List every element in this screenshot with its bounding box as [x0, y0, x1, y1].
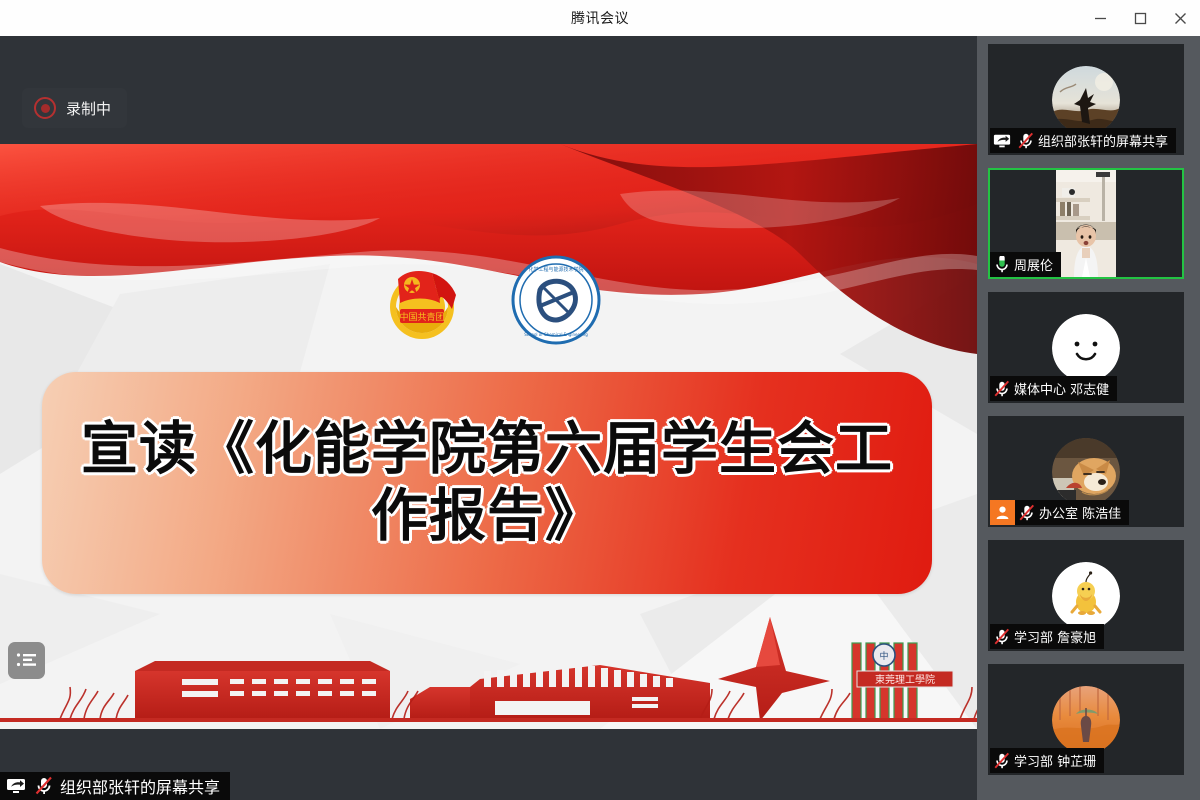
participant-name-bar: 媒体中心 邓志健: [990, 376, 1117, 401]
avatar: [1052, 562, 1120, 630]
participant-tile[interactable]: 媒体中心 邓志健: [988, 292, 1184, 403]
mic-muted-icon: [1014, 128, 1038, 153]
participant-tile[interactable]: 周展伦: [988, 168, 1184, 279]
shiba-dog-icon: [1052, 438, 1120, 506]
mic-muted-icon: [990, 748, 1014, 773]
participant-name: 组织部张轩的屏幕共享: [1038, 131, 1168, 150]
participant-tile[interactable]: 办公室 陈浩佳: [988, 416, 1184, 527]
psyduck-cartoon-icon: [1052, 562, 1120, 630]
maximize-button[interactable]: [1120, 0, 1160, 36]
slide-title-plate: 宣读《化能学院第六届学生会工作报告》: [42, 372, 932, 594]
participant-tile[interactable]: 组织部张轩的屏幕共享: [988, 44, 1184, 155]
live-camera-feed: [1056, 170, 1116, 277]
mic-muted-icon: [990, 376, 1014, 401]
campus-skyline-silhouette: 中 東莞理工學院 學 而知 不足: [0, 609, 977, 729]
host-badge-icon: [990, 500, 1015, 525]
window-controls: [1080, 0, 1200, 36]
avatar: [1052, 438, 1120, 506]
title-bar: 腾讯会议: [0, 0, 1200, 37]
window-title: 腾讯会议: [571, 8, 629, 28]
record-dot-icon: [34, 97, 56, 119]
participant-name: 学习部 钟芷珊: [1014, 751, 1096, 770]
recording-label: 录制中: [66, 98, 111, 119]
avatar: [1052, 314, 1120, 382]
tencent-meeting-window: 腾讯会议 录制中: [0, 0, 1200, 800]
participant-name-bar: 办公室 陈浩佳: [990, 500, 1129, 525]
participant-name: 学习部 詹豪旭: [1014, 627, 1096, 646]
minimize-icon: [1094, 12, 1107, 25]
share-status-label: 组织部张轩的屏幕共享: [0, 772, 230, 800]
communist-youth-league-emblem: 中国共青团: [376, 259, 472, 341]
presentation-slide: 中国共青团 化学工程与能源技术学院 School of Chemical Eng…: [0, 144, 977, 729]
mic-muted-icon: [990, 624, 1014, 649]
stage-bottom-bar: 组织部张轩的屏幕共享: [0, 729, 977, 800]
avatar: [1052, 66, 1120, 134]
share-label-text: 组织部张轩的屏幕共享: [60, 774, 220, 798]
mic-muted-icon: [32, 774, 56, 799]
participant-name-bar: 组织部张轩的屏幕共享: [990, 128, 1176, 153]
photo-person-sunset-icon: [1052, 66, 1120, 134]
maximize-icon: [1134, 12, 1147, 25]
screen-share-icon: [990, 128, 1014, 153]
college-emblem: 化学工程与能源技术学院 School of Chemical Engineeri…: [510, 254, 602, 346]
video-thumbnail-icon: [1056, 170, 1116, 277]
stage-top-bar: [0, 36, 977, 144]
participant-name: 周展伦: [1014, 255, 1053, 274]
close-icon: [1174, 12, 1187, 25]
white-smiley-face-icon: [1052, 314, 1120, 382]
participant-name: 办公室 陈浩佳: [1039, 503, 1121, 522]
mic-on-icon: [990, 252, 1014, 277]
participant-name-bar: 周展伦: [990, 252, 1061, 277]
minimize-button[interactable]: [1080, 0, 1120, 36]
svg-text:中: 中: [879, 650, 888, 662]
participant-name: 媒体中心 邓志健: [1014, 379, 1109, 398]
svg-text:化学工程与能源技术学院: 化学工程与能源技术学院: [528, 266, 583, 273]
shared-screen-stage[interactable]: 录制中: [0, 36, 977, 800]
mic-muted-icon: [1015, 500, 1039, 525]
svg-text:School of Chemical Engineering: School of Chemical Engineering: [524, 332, 588, 337]
close-button[interactable]: [1160, 0, 1200, 36]
gate-text: 東莞理工學院: [875, 673, 935, 686]
screen-share-icon: [4, 774, 28, 799]
participant-name-bar: 学习部 钟芷珊: [990, 748, 1104, 773]
svg-text:中国共青团: 中国共青团: [399, 311, 444, 323]
participant-tile[interactable]: 学习部 钟芷珊: [988, 664, 1184, 775]
recording-badge: 录制中: [22, 88, 127, 128]
orange-painting-icon: [1052, 686, 1120, 754]
page-title: 宣读《化能学院第六届学生会工作报告》: [67, 416, 907, 551]
participant-name-bar: 学习部 詹豪旭: [990, 624, 1104, 649]
participant-filmstrip[interactable]: 组织部张轩的屏幕共享: [977, 36, 1200, 800]
avatar: [1052, 686, 1120, 754]
slide-logos: 中国共青团 化学工程与能源技术学院 School of Chemical Eng…: [0, 254, 977, 346]
participant-tile[interactable]: 学习部 詹豪旭: [988, 540, 1184, 651]
